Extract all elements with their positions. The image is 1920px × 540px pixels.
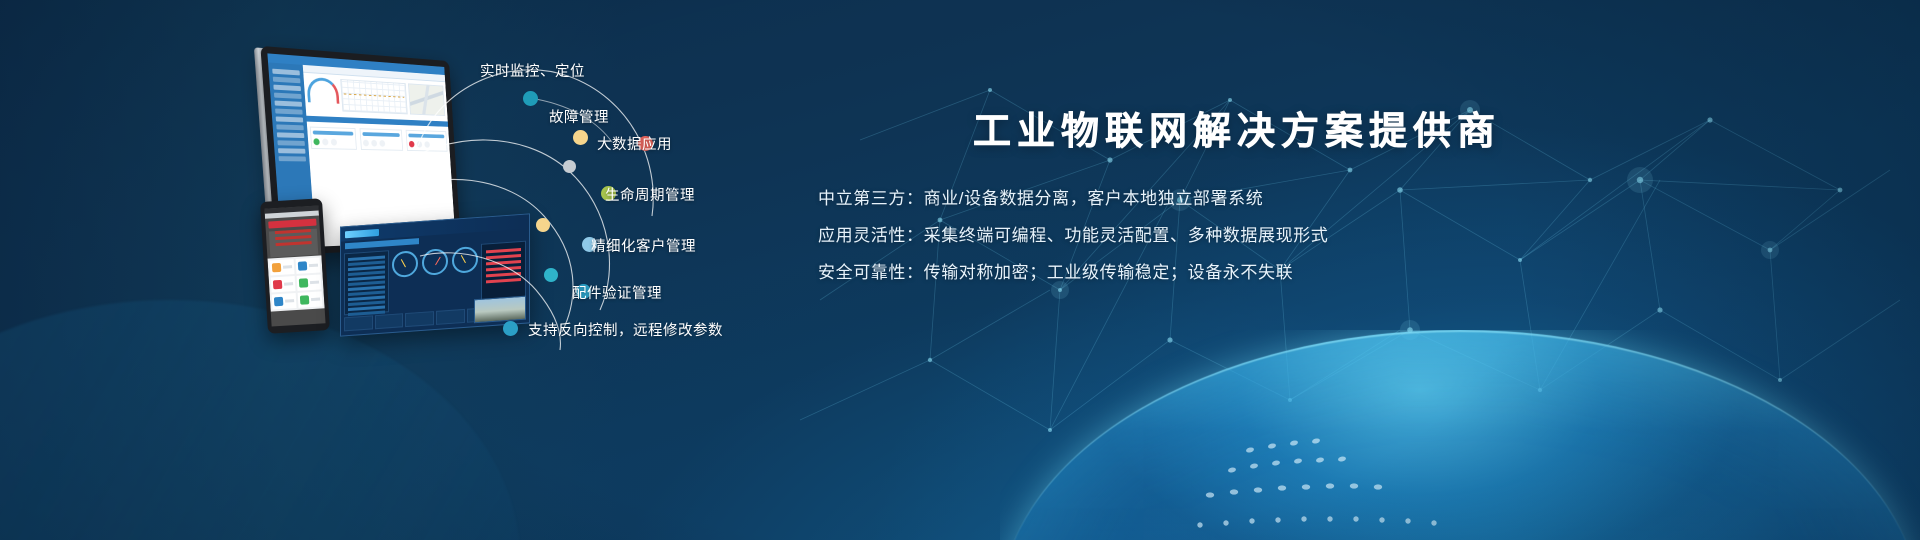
arc-label-reverse: 支持反向控制，远程修改参数 xyxy=(528,319,723,340)
arc-label-lifecycle: 生命周期管理 xyxy=(605,184,695,205)
feature-arc-diagram: 实时监控、定位 故障管理 大数据应用 生命周期管理 精细化客户管理 配件验证管理… xyxy=(300,20,760,360)
arc-node-dot-fault[interactable] xyxy=(573,130,588,145)
arc-node-dot-realtime[interactable] xyxy=(523,91,538,106)
bullet-item: 中立第三方：商业/设备数据分离，客户本地独立部署系统 xyxy=(818,180,1328,217)
arc-label-parts: 配件验证管理 xyxy=(572,282,662,303)
right-content-block: 工业物联网解决方案提供商 中立第三方：商业/设备数据分离，客户本地独立部署系统 … xyxy=(818,0,1818,540)
hero-banner: 实时监控、定位 故障管理 大数据应用 生命周期管理 精细化客户管理 配件验证管理… xyxy=(0,0,1920,540)
arc-node-dot-cyan[interactable] xyxy=(544,268,558,282)
arc-node-dot-amber[interactable] xyxy=(536,218,550,232)
bullet-item: 应用灵活性：采集终端可编程、功能灵活配置、多种数据展现形式 xyxy=(818,217,1328,254)
bullet-item: 安全可靠性：传输对称加密；工业级传输稳定；设备永不失联 xyxy=(818,254,1328,291)
feature-bullet-list: 中立第三方：商业/设备数据分离，客户本地独立部署系统 应用灵活性：采集终端可编程… xyxy=(818,180,1328,291)
arc-label-realtime: 实时监控、定位 xyxy=(480,60,585,81)
arc-node-dot-reverse[interactable] xyxy=(503,321,518,336)
arc-label-customer: 精细化客户管理 xyxy=(591,235,696,256)
page-title: 工业物联网解决方案提供商 xyxy=(973,100,1501,155)
arc-node-dot-grey[interactable] xyxy=(563,160,576,173)
arc-label-bigdata: 大数据应用 xyxy=(597,133,672,154)
arc-label-fault: 故障管理 xyxy=(549,106,609,127)
